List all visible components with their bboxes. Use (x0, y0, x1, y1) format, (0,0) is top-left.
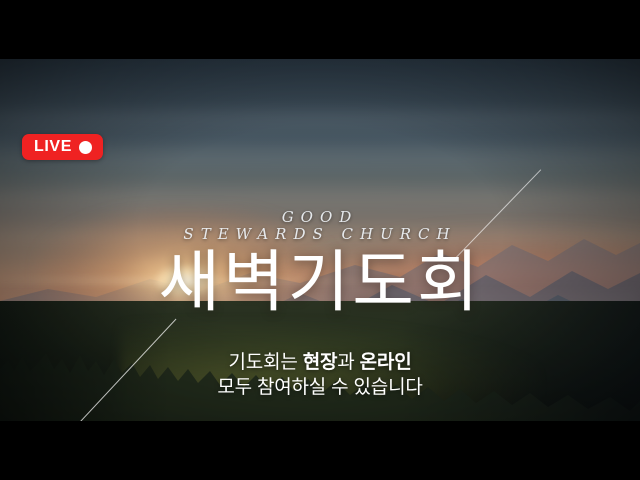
letterbox-bottom (0, 421, 640, 480)
cloud-streak (0, 110, 640, 126)
letterbox-top (0, 0, 640, 59)
video-frame[interactable]: LIVE GOOD STEWARDS CHURCH 새벽기도회 기도회는 현장과… (0, 59, 640, 421)
video-player-stage: LIVE GOOD STEWARDS CHURCH 새벽기도회 기도회는 현장과… (0, 0, 640, 480)
live-badge-label: LIVE (34, 139, 72, 155)
cloud-streak (0, 189, 640, 207)
forest-shadow-right (400, 301, 640, 421)
live-badge[interactable]: LIVE (22, 134, 103, 160)
record-dot-icon (79, 141, 92, 154)
forest-shadow-left (0, 301, 170, 421)
